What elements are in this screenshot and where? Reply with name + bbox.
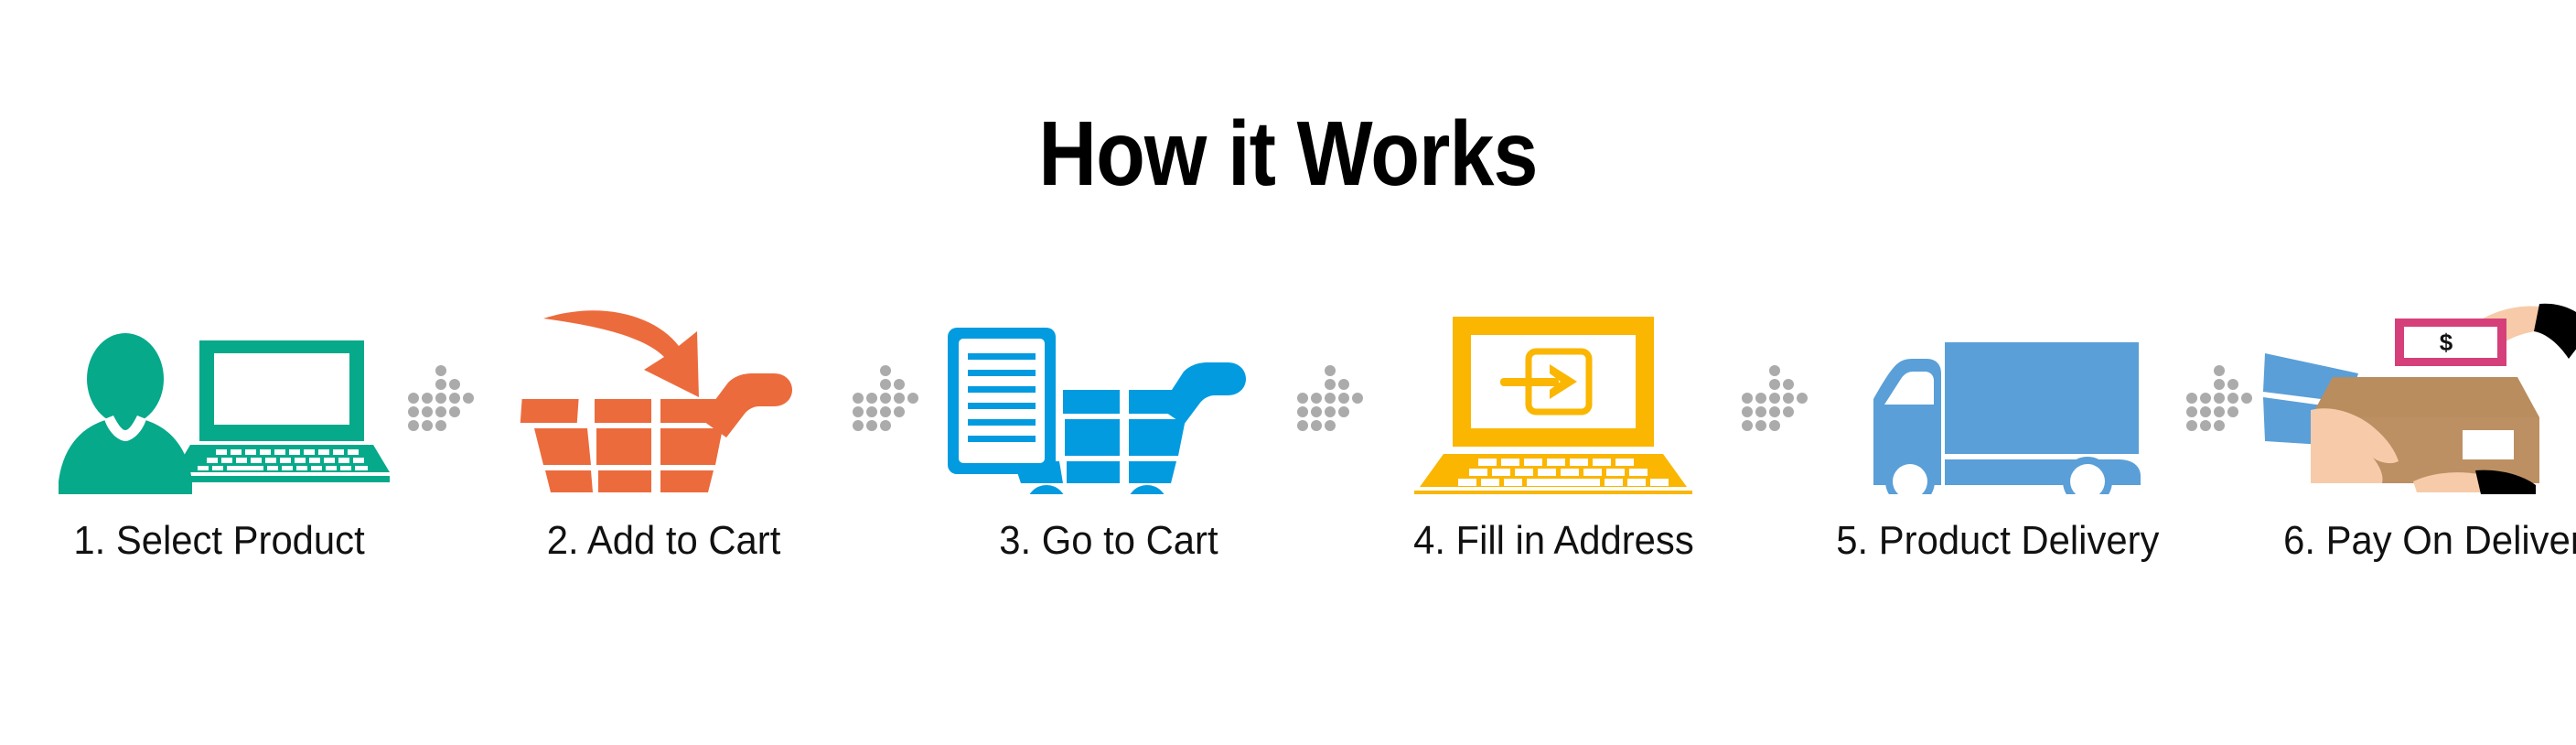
separator-5 — [2181, 302, 2259, 494]
hands-exchanging-box-and-money-icon: $ — [2259, 302, 2576, 494]
step-6-label: 6. Pay On Delivery — [2283, 518, 2576, 564]
step-1-label: 1. Select Product — [74, 518, 365, 564]
infographic-page: How it Works — [0, 0, 2576, 745]
separator-3 — [1292, 302, 1370, 494]
step-3-go-to-cart[interactable]: 3. Go to Cart — [926, 302, 1292, 564]
step-6-art: $ — [2259, 302, 2576, 494]
steps-row: 1. Select Product — [37, 302, 2543, 604]
banknote: $ — [2395, 319, 2506, 366]
separator-1 — [402, 302, 481, 494]
person-with-laptop-icon — [37, 302, 402, 494]
shopping-cart-with-arrow-icon — [481, 302, 847, 494]
step-5-art — [1815, 302, 2181, 494]
separator-4 — [1736, 302, 1815, 494]
step-4-label: 4. Fill in Address — [1413, 518, 1694, 564]
dollar-symbol: $ — [2440, 329, 2453, 356]
step-4-art — [1370, 302, 1736, 494]
shipping-label — [2463, 430, 2514, 459]
separator-2 — [847, 302, 926, 494]
step-1-art — [37, 302, 402, 494]
dotted-arrow-right-icon — [847, 362, 926, 435]
step-4-fill-in-address[interactable]: 4. Fill in Address — [1370, 302, 1736, 564]
step-1-select-product[interactable]: 1. Select Product — [37, 302, 402, 564]
step-2-art — [481, 302, 847, 494]
document-with-cart-icon — [926, 302, 1292, 494]
dotted-arrow-right-icon — [1292, 362, 1370, 435]
step-5-label: 5. Product Delivery — [1836, 518, 2159, 564]
dotted-arrow-right-icon — [2181, 362, 2259, 435]
dotted-arrow-right-icon — [402, 362, 481, 435]
step-3-label: 3. Go to Cart — [999, 518, 1218, 564]
step-2-label: 2. Add to Cart — [547, 518, 781, 564]
page-title: How it Works — [155, 108, 2421, 200]
laptop-login-icon — [1370, 302, 1736, 494]
step-6-pay-on-delivery[interactable]: $ — [2259, 302, 2576, 564]
step-3-art — [926, 302, 1292, 494]
step-5-product-delivery[interactable]: 5. Product Delivery — [1815, 302, 2181, 564]
dotted-arrow-right-icon — [1736, 362, 1815, 435]
delivery-truck-icon — [1815, 302, 2181, 494]
step-2-add-to-cart[interactable]: 2. Add to Cart — [481, 302, 847, 564]
